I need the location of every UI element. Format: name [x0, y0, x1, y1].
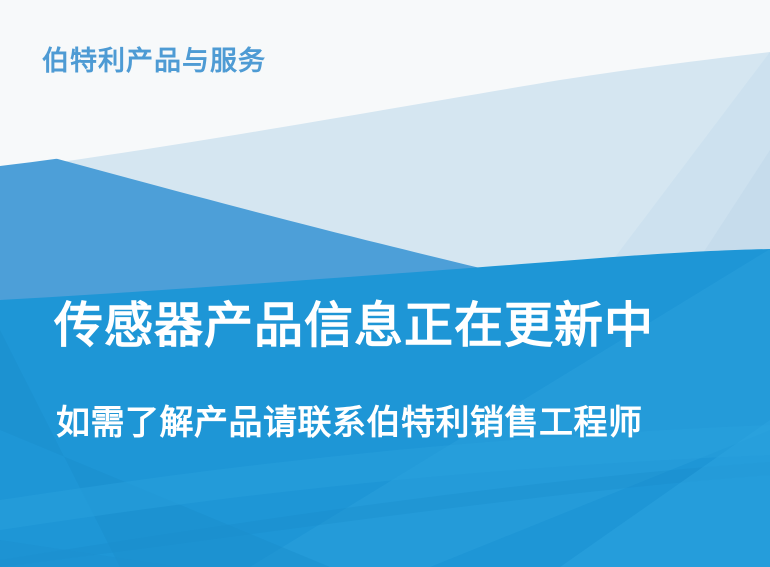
page-title: 伯特利产品与服务	[42, 47, 266, 77]
banner-text-layer: 伯特利产品与服务 传感器产品信息正在更新中 如需了解产品请联系伯特利销售工程师	[0, 0, 770, 567]
headline-text: 传感器产品信息正在更新中	[54, 299, 654, 353]
subheadline-text: 如需了解产品请联系伯特利销售工程师	[56, 405, 643, 442]
promo-banner: 伯特利产品与服务 传感器产品信息正在更新中 如需了解产品请联系伯特利销售工程师	[0, 0, 770, 567]
